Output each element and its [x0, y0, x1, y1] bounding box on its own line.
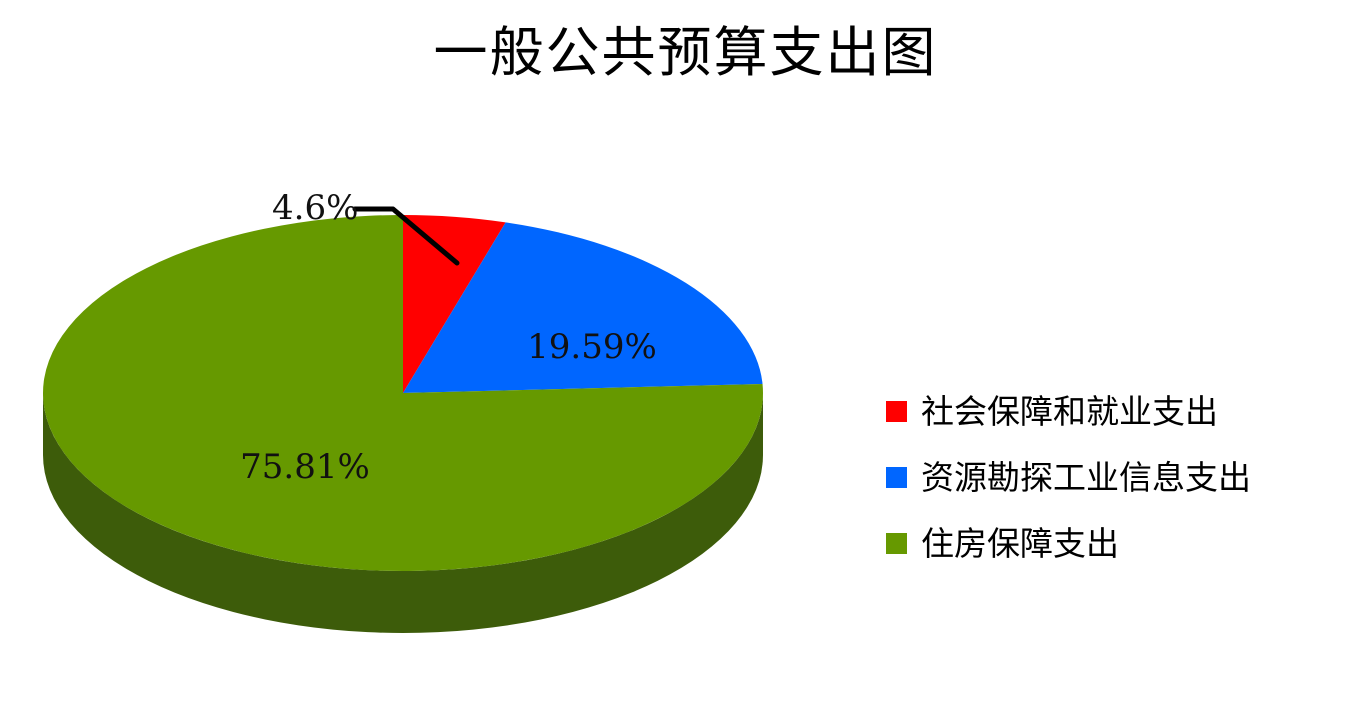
legend-swatch-icon	[886, 467, 907, 488]
legend-item-label: 资源勘探工业信息支出	[921, 461, 1251, 494]
legend-item-resource-exploration[interactable]: 资源勘探工业信息支出	[886, 444, 1356, 510]
pie-chart-graphic: 4.6% 19.59% 75.81%	[0, 0, 1371, 713]
legend-item-social-security[interactable]: 社会保障和就业支出	[886, 378, 1356, 444]
legend-swatch-icon	[886, 401, 907, 422]
legend-item-label: 社会保障和就业支出	[921, 395, 1218, 428]
legend-item-housing-security[interactable]: 住房保障支出	[886, 510, 1356, 576]
chart-legend: 社会保障和就业支出 资源勘探工业信息支出 住房保障支出	[886, 378, 1356, 576]
chart-canvas: 一般公共预算支出图 4.6% 19.59% 75.81% 社会保障和就业支出 资…	[0, 0, 1371, 713]
slice-label-social-security: 4.6%	[272, 188, 358, 228]
legend-swatch-icon	[886, 533, 907, 554]
legend-item-label: 住房保障支出	[921, 527, 1119, 560]
slice-label-housing-security: 75.81%	[240, 447, 370, 487]
slice-label-resource-exploration: 19.59%	[527, 327, 657, 367]
pie-top-faces	[43, 215, 763, 571]
